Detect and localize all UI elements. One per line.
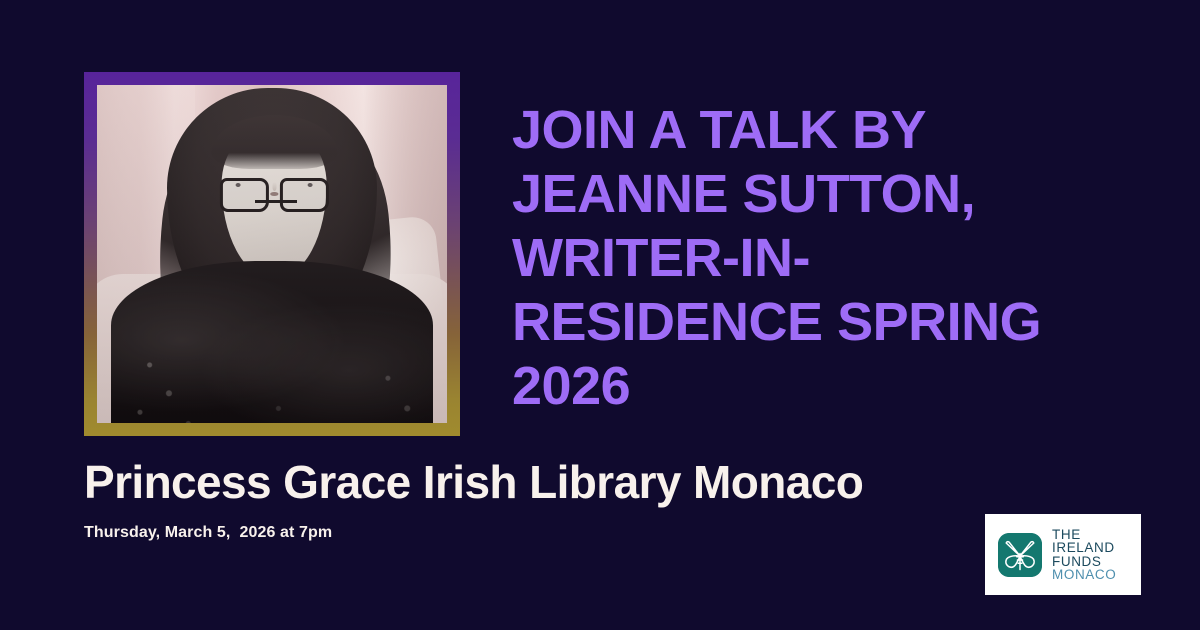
- sponsor-line-monaco: MONACO: [1052, 568, 1116, 582]
- glasses-lens-left: [220, 178, 269, 212]
- speaker-photo: [97, 85, 447, 423]
- sponsor-wordmark: THE IRELAND FUNDS MONACO: [1052, 528, 1116, 582]
- glasses-bridge: [255, 200, 297, 203]
- shamrock-icon: [998, 533, 1042, 577]
- photo-torso: [111, 261, 433, 423]
- portrait-frame: [84, 72, 460, 436]
- glasses-lens-right: [280, 178, 329, 212]
- sponsor-logo: THE IRELAND FUNDS MONACO: [985, 514, 1141, 595]
- glasses-icon: [220, 178, 328, 212]
- poster-headline: JOIN A TALK BY JEANNE SUTTON, WRITER-IN-…: [512, 98, 1112, 418]
- sponsor-line-the: THE: [1052, 528, 1116, 542]
- sponsor-line-ireland: IRELAND: [1052, 541, 1116, 555]
- event-datetime: Thursday, March 5, 2026 at 7pm: [84, 524, 864, 542]
- venue-block: Princess Grace Irish Library Monaco Thur…: [84, 457, 864, 542]
- event-poster: JOIN A TALK BY JEANNE SUTTON, WRITER-IN-…: [0, 0, 1200, 630]
- portrait-image: [97, 85, 447, 423]
- photo-lace-texture: [111, 261, 433, 423]
- sponsor-line-funds: FUNDS: [1052, 555, 1116, 569]
- venue-name: Princess Grace Irish Library Monaco: [84, 457, 864, 508]
